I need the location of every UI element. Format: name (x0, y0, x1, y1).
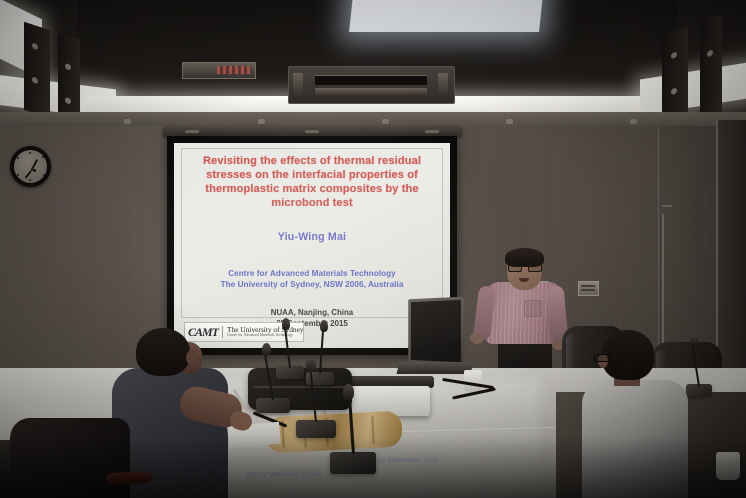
table-reflection-line-c: NUAA, Nanjing, China (246, 470, 321, 479)
slide-affiliation-line2: The University of Sydney, NSW 2006, Aust… (221, 279, 404, 290)
laptop-screen[interactable] (408, 297, 464, 366)
ceiling-beam-left-outer (24, 22, 50, 118)
table-reflection-line-d: 25 September 2015 (378, 456, 438, 463)
laptop-display-panel (411, 300, 461, 362)
paper-cup-right[interactable] (716, 452, 740, 480)
chair-foreground[interactable] (10, 418, 140, 498)
attendee-left-hair (136, 328, 190, 376)
slide-title: Revisiting the effects of thermal residu… (188, 154, 436, 210)
clock-face (14, 150, 47, 183)
presentation-room-photo: Revisiting the effects of thermal residu… (0, 0, 746, 498)
led-digits-icon (217, 66, 251, 74)
door-frame[interactable] (716, 120, 746, 380)
attendee-left-ear (186, 350, 197, 365)
air-conditioning-vent (288, 66, 455, 104)
bag-seam (254, 386, 346, 388)
attendee-right-glasses-icon (594, 354, 610, 362)
presenter-left-hand (470, 332, 484, 344)
wall-seam-top (662, 205, 672, 207)
skylight-light-panel (349, 0, 545, 32)
presenter-glasses-icon (508, 263, 541, 270)
slide-affiliation: Centre for Advanced Materials Technology… (221, 268, 404, 290)
slide-author: Yiu-Wing Mai (278, 231, 346, 243)
slide-venue-line1: NUAA, Nanjing, China (271, 307, 353, 318)
slide-affiliation-line1: Centre for Advanced Materials Technology (221, 268, 404, 279)
ceiling (0, 0, 746, 132)
attendee-right-shading (582, 380, 688, 498)
logo-subtitle: Centre for Advanced Materials Technology (227, 334, 304, 338)
presenter-shirt-pocket (524, 300, 542, 317)
ceiling-beam-right-outer (700, 14, 722, 126)
laptop-base[interactable] (397, 362, 474, 374)
clock-hour-hand (24, 170, 31, 178)
wall-outlet-plate[interactable] (578, 281, 599, 296)
attendee-seated-right (586, 330, 706, 498)
ceiling-led-display (182, 62, 256, 79)
clock-center-pin (33, 169, 36, 172)
wall-clock (10, 146, 51, 187)
